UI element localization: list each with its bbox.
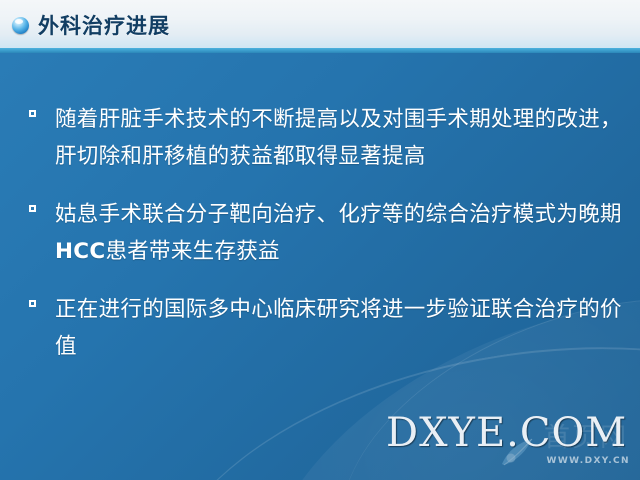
blue-sphere-icon: [12, 17, 29, 34]
bullet-text-2: 姑息手术联合分子靶向治疗、化疗等的综合治疗模式为晚期HCC患者带来生存获益: [55, 196, 624, 270]
slide-header: 外科治疗进展: [0, 0, 640, 48]
hollow-square-bullet-icon: [29, 205, 36, 212]
slide-canvas: 外科治疗进展 随着肝脏手术技术的不断提高以及对围手术期处理的改进，肝切除和肝移植…: [0, 0, 640, 480]
watermark-cn-mark: 首页网: [544, 417, 628, 454]
bullet-1-segment-main: 随着肝脏手术技术的不断提高以及对围手术期处理的改进，肝切除和肝移植的获益都取得显…: [55, 107, 622, 169]
bullet-list: 随着肝脏手术技术的不断提高以及对围手术期处理的改进，肝切除和肝移植的获益都取得显…: [28, 101, 624, 386]
slide-body: 随着肝脏手术技术的不断提高以及对围手术期处理的改进，肝切除和肝移植的获益都取得显…: [0, 53, 640, 480]
bullet-text-3: 正在进行的国际多中心临床研究将进一步验证联合治疗的价值: [55, 291, 624, 365]
hollow-square-bullet-icon: [29, 110, 36, 117]
list-item: 正在进行的国际多中心临床研究将进一步验证联合治疗的价值: [28, 291, 624, 365]
watermark: 首页网 DXYE.COM WWW.DXY.CN: [386, 412, 636, 474]
list-item: 随着肝脏手术技术的不断提高以及对围手术期处理的改进，肝切除和肝移植的获益都取得显…: [28, 101, 624, 175]
bullet-2-segment-bold: HCC: [55, 239, 105, 264]
bullet-2-segment-lead: 姑息手术联合分子靶向治疗、化疗等的综合治疗模式为晚期: [55, 202, 622, 227]
list-item: 姑息手术联合分子靶向治疗、化疗等的综合治疗模式为晚期HCC患者带来生存获益: [28, 196, 624, 270]
bullet-text-1: 随着肝脏手术技术的不断提高以及对围手术期处理的改进，肝切除和肝移植的获益都取得显…: [55, 101, 624, 175]
page-title: 外科治疗进展: [38, 10, 170, 40]
watermark-sub-text: WWW.DXY.CN: [547, 456, 630, 466]
leaf-logo-icon: [498, 434, 538, 468]
watermark-main-text: DXYE.COM: [386, 410, 627, 456]
bullet-3-segment-main: 正在进行的国际多中心临床研究将进一步验证联合治疗的价值: [55, 297, 622, 359]
hollow-square-bullet-icon: [29, 300, 36, 307]
bullet-2-segment-tail: 患者带来生存获益: [105, 239, 279, 264]
